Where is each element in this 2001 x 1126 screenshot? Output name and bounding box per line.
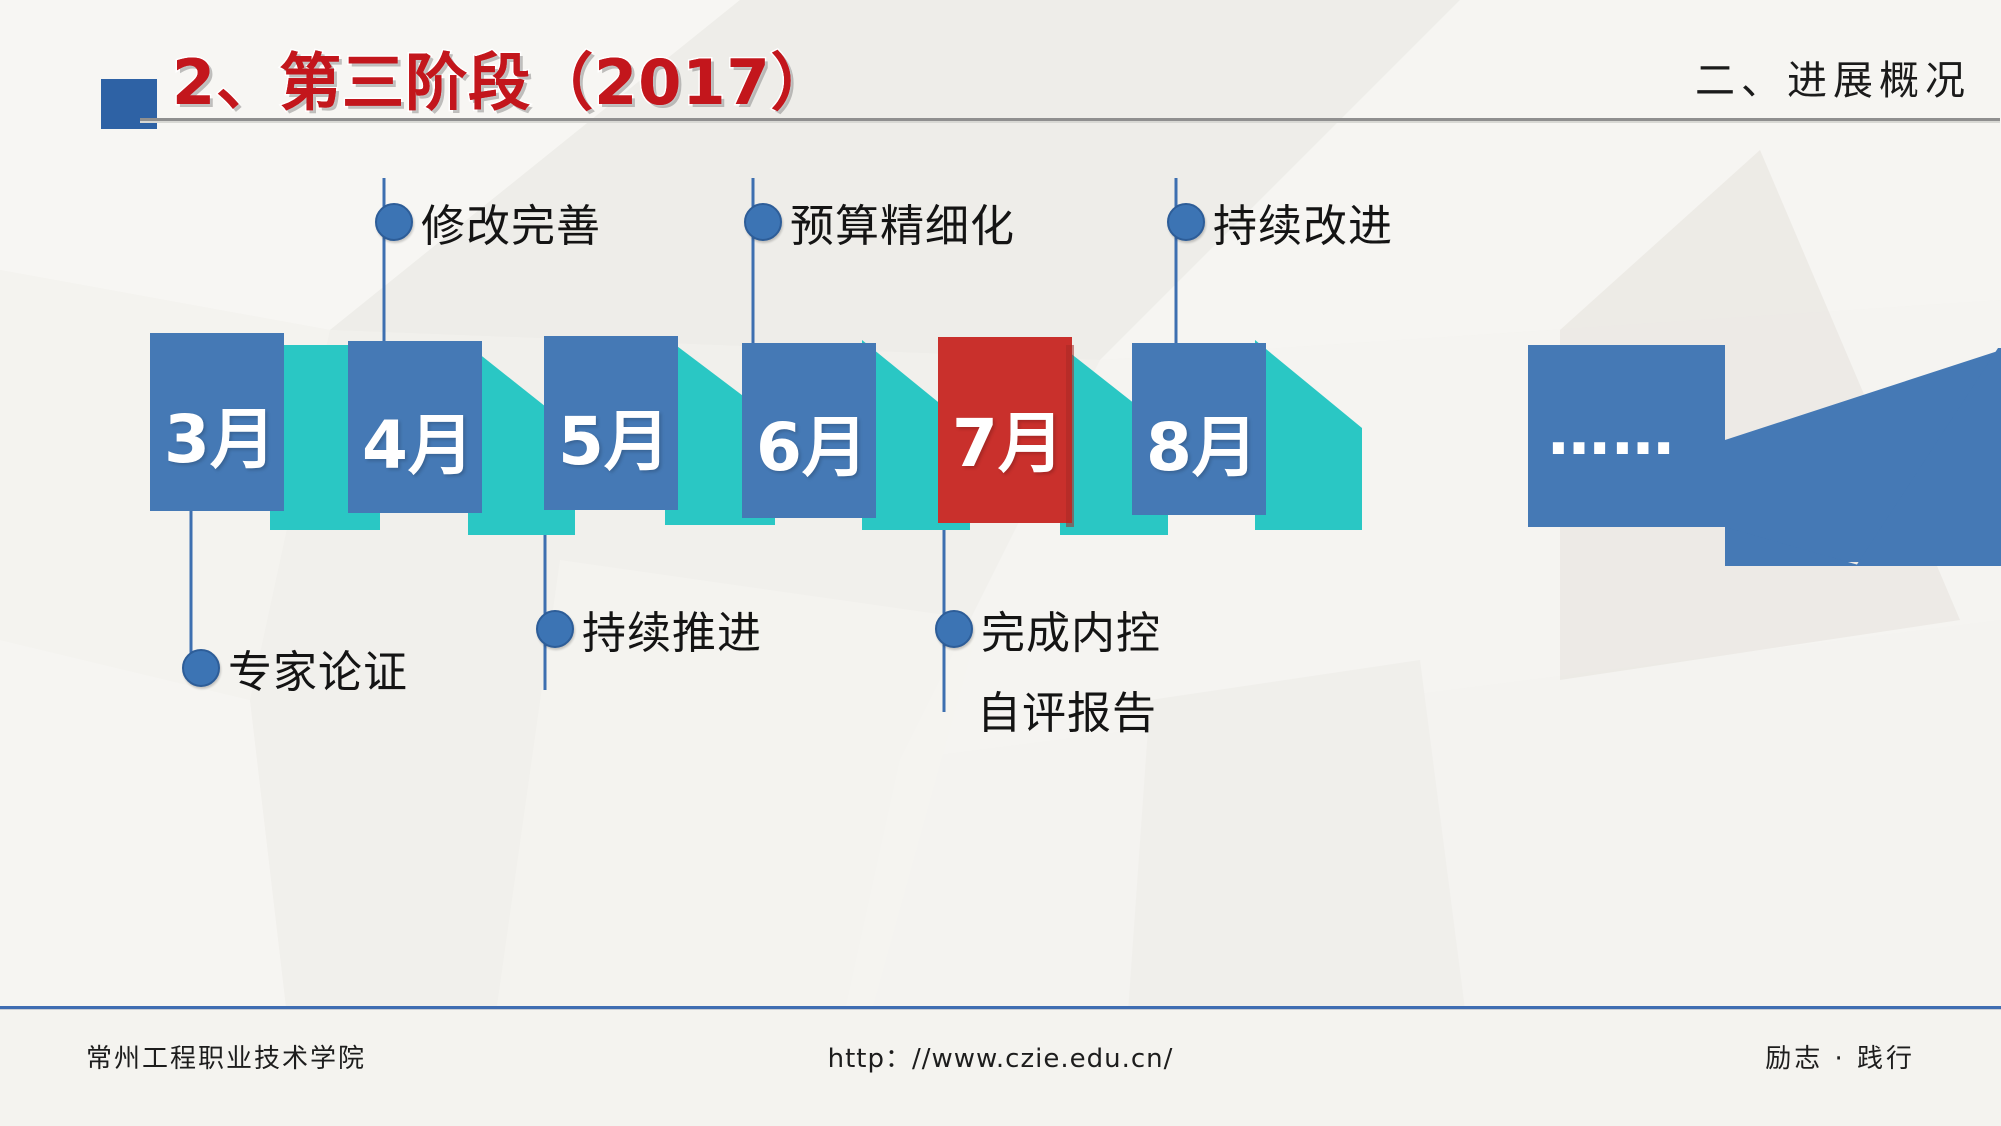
callout-below-7yue: 完成内控 自评报告 xyxy=(935,597,1161,741)
callout-bullet-icon xyxy=(375,203,413,241)
step-label-8yue: 8月 xyxy=(1146,394,1258,490)
callout-bullet-icon xyxy=(1167,203,1205,241)
callout-bullet-icon xyxy=(536,610,574,648)
timeline-graphic xyxy=(0,0,2001,1126)
callout-above-8yue: 持续改进 xyxy=(1167,190,1393,254)
step-label-3yue: 3月 xyxy=(164,386,276,482)
callout-below-5yue: 持续推进 xyxy=(536,597,762,661)
callout-bullet-icon xyxy=(935,610,973,648)
callout-text: 专家论证 xyxy=(228,636,408,700)
connector-6 xyxy=(1255,340,1362,530)
footer-url[interactable]: http：//www.czie.edu.cn/ xyxy=(828,1038,1174,1075)
slide-root: { "header": { "title": "2、第三阶段（2017）", "… xyxy=(0,0,2001,1126)
callout-above-4yue: 修改完善 xyxy=(375,190,601,254)
callout-text: 修改完善 xyxy=(421,190,601,254)
step-box-7yue-shadow xyxy=(1066,345,1074,527)
section-label: 二、进展概况 xyxy=(1695,48,1971,106)
callout-text: 预算精细化 xyxy=(790,190,1015,254)
timeline-shapes xyxy=(0,0,2001,1126)
slide-footer: 常州工程职业技术学院 http：//www.czie.edu.cn/ 励志 · … xyxy=(0,1006,2001,1126)
step-label-6yue: 6月 xyxy=(756,394,868,490)
callout-below-3yue: 专家论证 xyxy=(182,636,408,700)
callout-text: 持续推进 xyxy=(582,597,762,661)
step-label-4yue: 4月 xyxy=(362,392,474,488)
page-title: 2、第三阶段（2017） xyxy=(172,32,834,122)
step-label-5yue: 5月 xyxy=(558,388,670,484)
slide-header: 2、第三阶段（2017） 2、第三阶段（2017） 二、进展概况 xyxy=(0,0,2001,150)
step-label-ellipsis: …… xyxy=(1548,396,1676,469)
footer-divider-secondary xyxy=(0,1009,2001,1010)
callout-text-line2: 自评报告 xyxy=(977,677,1161,741)
footer-institution: 常州工程职业技术学院 xyxy=(86,1038,366,1075)
callout-text: 持续改进 xyxy=(1213,190,1393,254)
callout-bullet-icon xyxy=(182,649,220,687)
callout-text: 完成内控 xyxy=(981,597,1161,661)
callout-bullet-icon xyxy=(744,203,782,241)
footer-motto: 励志 · 践行 xyxy=(1765,1038,1915,1075)
callout-above-6yue: 预算精细化 xyxy=(744,190,1015,254)
step-label-7yue: 7月 xyxy=(952,390,1064,486)
